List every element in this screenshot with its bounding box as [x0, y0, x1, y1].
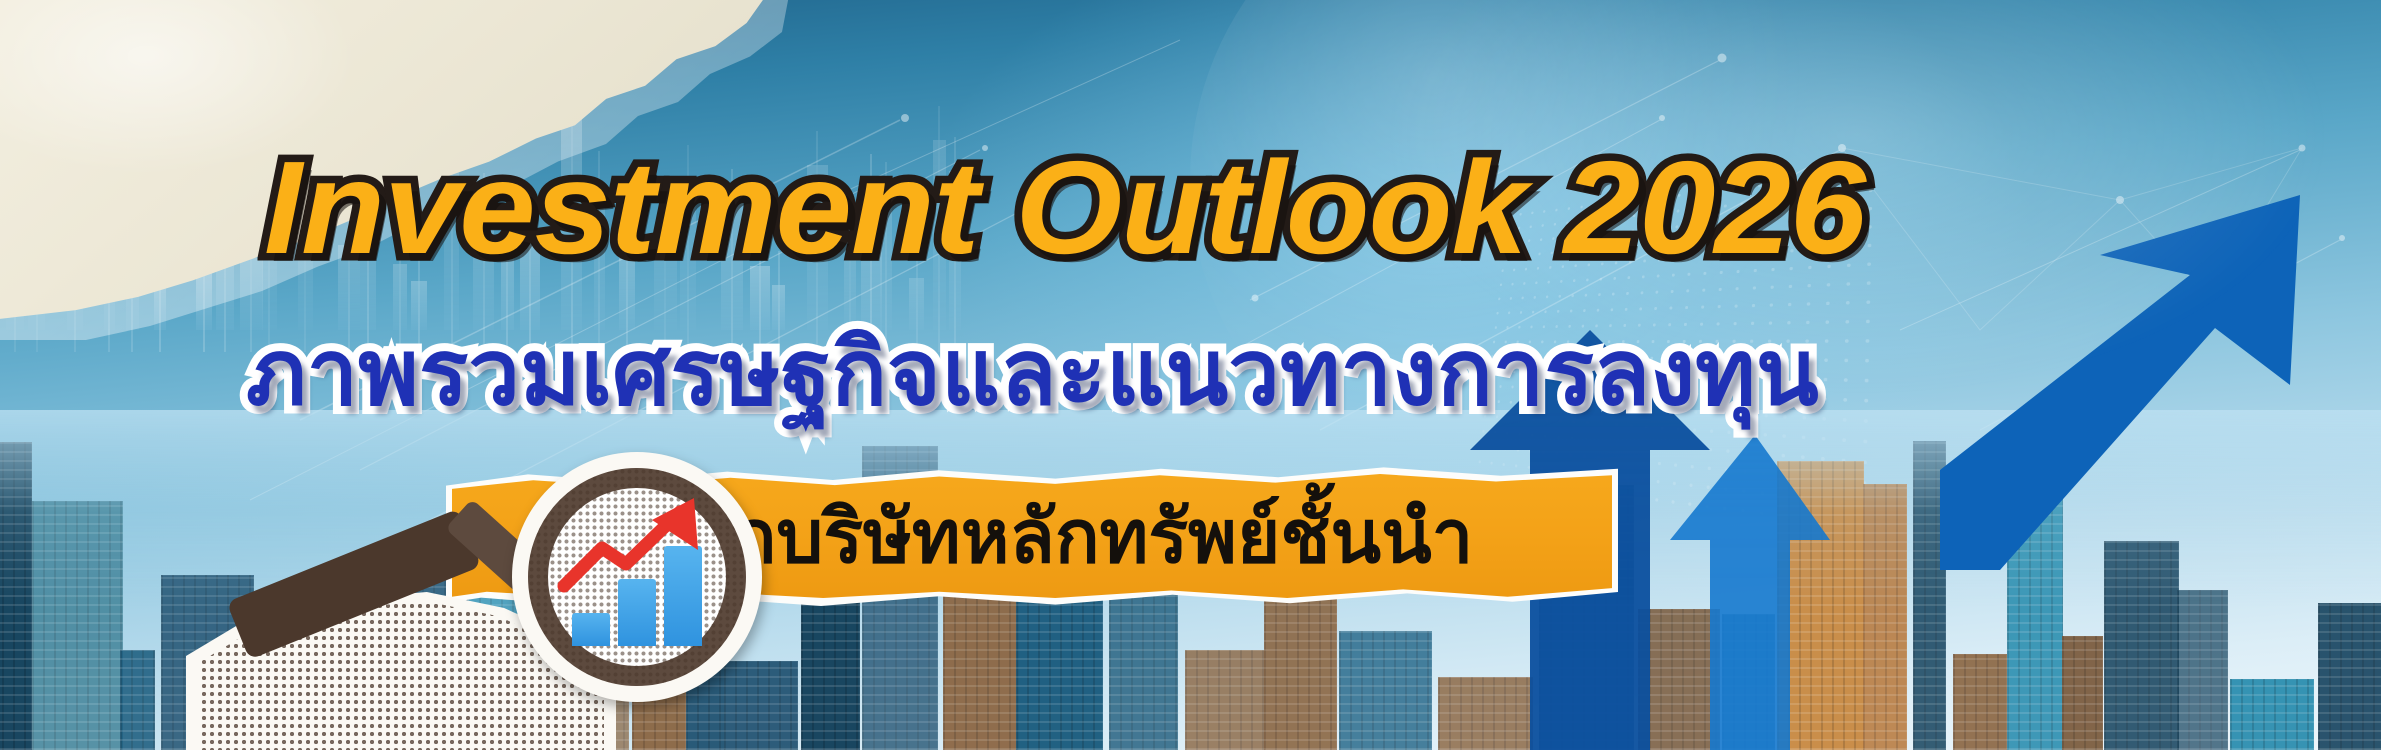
page-subtitle: ภาพรวมเศรษฐกิจและแนวทางการลงทุน — [246, 322, 1819, 425]
magnifying-glass-icon — [512, 452, 762, 702]
bar-1 — [572, 613, 610, 646]
investment-outlook-banner: Investment Outlook 2026 ภาพรวมเศรษฐกิจแล… — [0, 0, 2381, 750]
growth-arrow-icon — [1940, 150, 2380, 570]
trend-up-arrow-icon — [556, 490, 716, 600]
page-title: Investment Outlook 2026 — [264, 142, 1865, 274]
